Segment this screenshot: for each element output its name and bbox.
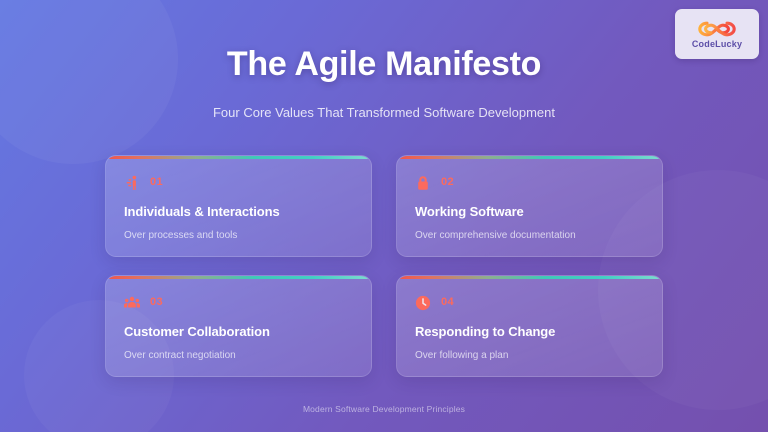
value-card-2[interactable]: 02 Working Software Over comprehensive d… xyxy=(396,155,663,257)
card-number: 04 xyxy=(441,297,454,308)
card-title: Individuals & Interactions xyxy=(124,204,353,219)
card-number: 01 xyxy=(150,177,163,188)
value-cards-grid: 01 Individuals & Interactions Over proce… xyxy=(105,155,663,377)
person-interaction-icon xyxy=(124,175,140,191)
card-header: 01 xyxy=(124,174,353,191)
slide-header: The Agile Manifesto Four Core Values Tha… xyxy=(0,0,768,120)
lock-icon xyxy=(415,175,431,191)
card-subtitle: Over comprehensive documentation xyxy=(415,230,644,241)
card-title: Working Software xyxy=(415,204,644,219)
users-group-icon xyxy=(124,295,140,311)
page-title: The Agile Manifesto xyxy=(0,45,768,84)
value-card-3[interactable]: 03 Customer Collaboration Over contract … xyxy=(105,275,372,377)
clock-icon xyxy=(415,295,431,311)
card-title: Customer Collaboration xyxy=(124,324,353,339)
card-number: 02 xyxy=(441,177,454,188)
card-subtitle: Over contract negotiation xyxy=(124,350,353,361)
card-header: 03 xyxy=(124,294,353,311)
card-title: Responding to Change xyxy=(415,324,644,339)
value-card-4[interactable]: 04 Responding to Change Over following a… xyxy=(396,275,663,377)
card-number: 03 xyxy=(150,297,163,308)
card-subtitle: Over processes and tools xyxy=(124,230,353,241)
slide-footer: Modern Software Development Principles xyxy=(0,404,768,414)
card-header: 02 xyxy=(415,174,644,191)
value-card-1[interactable]: 01 Individuals & Interactions Over proce… xyxy=(105,155,372,257)
slide-canvas: CodeLucky The Agile Manifesto Four Core … xyxy=(0,0,768,432)
page-subtitle: Four Core Values That Transformed Softwa… xyxy=(0,105,768,120)
card-subtitle: Over following a plan xyxy=(415,350,644,361)
card-header: 04 xyxy=(415,294,644,311)
